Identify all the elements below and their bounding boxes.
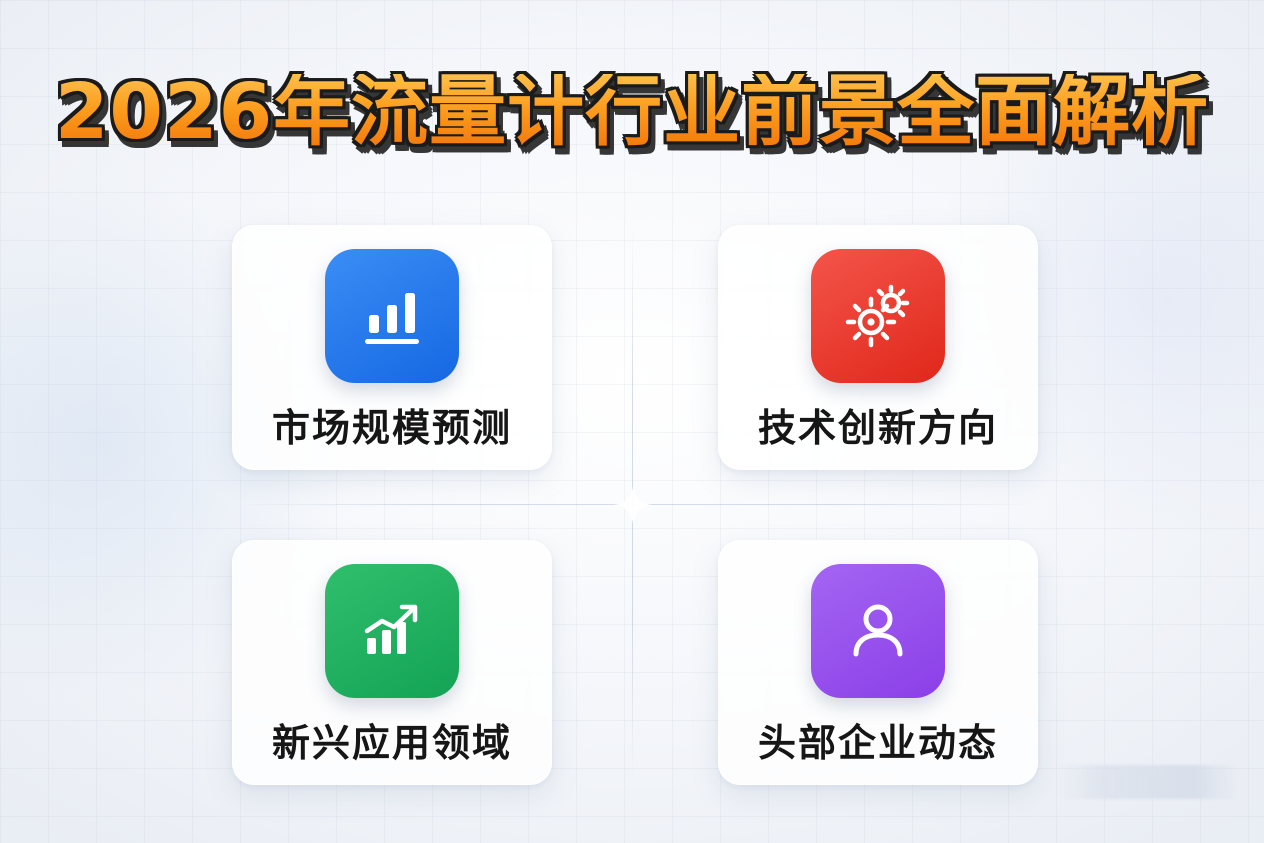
card-label: 市场规模预测 [272,409,512,447]
watermark-smudge [1058,765,1240,799]
bar-chart-icon [325,249,459,383]
growth-chart-icon [325,564,459,698]
title-container: 2026年流量计行业前景全面解析 [0,74,1264,151]
card-label: 新兴应用领域 [272,724,512,762]
person-icon [811,564,945,698]
card-leading-companies[interactable]: 头部企业动态 [718,540,1038,785]
card-emerging-applications[interactable]: 新兴应用领域 [232,540,552,785]
gears-icon [811,249,945,383]
cards-grid: 市场规模预测 技术创新方向 [232,225,1038,785]
card-tech-innovation[interactable]: 技术创新方向 [718,225,1038,470]
poster-canvas: 2026年流量计行业前景全面解析 市场规模预测 [0,0,1264,843]
card-label: 头部企业动态 [758,724,998,762]
card-label: 技术创新方向 [758,409,998,447]
card-market-size[interactable]: 市场规模预测 [232,225,552,470]
page-title: 2026年流量计行业前景全面解析 [55,74,1209,151]
